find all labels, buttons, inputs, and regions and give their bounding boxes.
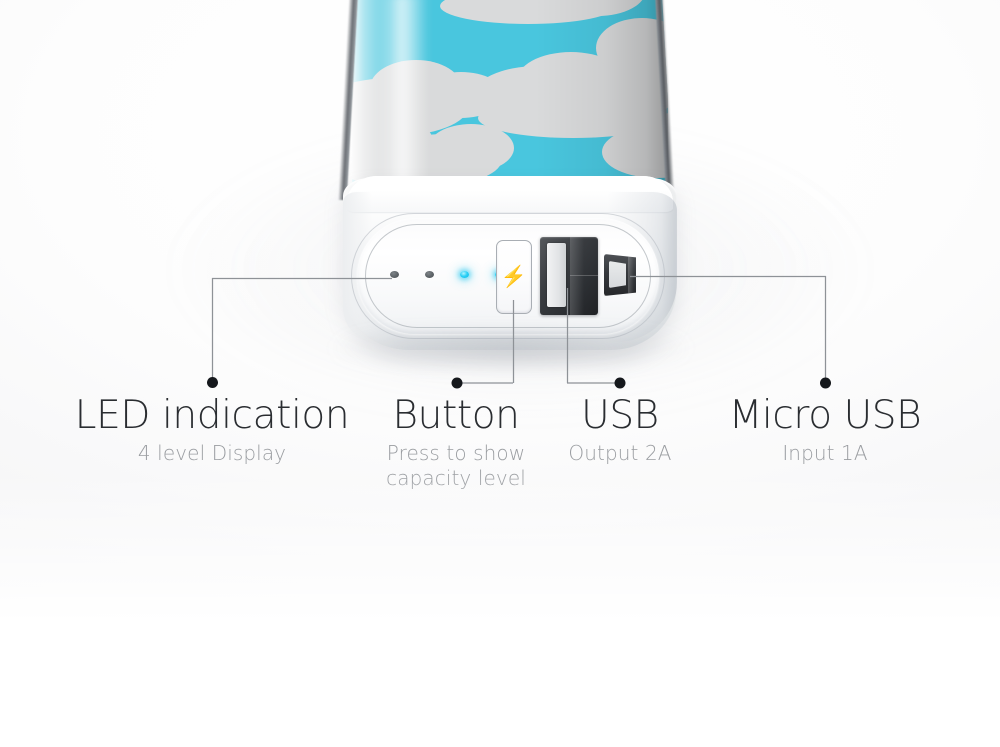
micro-usb-slot bbox=[609, 261, 626, 288]
usb-inner-divider bbox=[570, 275, 598, 276]
end-cap-shoulder bbox=[347, 176, 673, 212]
infographic-canvas: ⚡ bbox=[0, 0, 1000, 747]
background-lower-fade bbox=[0, 470, 1000, 747]
lightning-bolt-icon: ⚡ bbox=[497, 267, 531, 288]
callout-title: USB bbox=[531, 396, 709, 437]
usb-contact-tongue bbox=[547, 243, 566, 307]
callout-subtitle: Input 1A bbox=[700, 441, 950, 467]
callout-usb: USB Output 2A bbox=[531, 396, 709, 466]
callout-subtitle: Output 2A bbox=[531, 441, 709, 467]
micro-usb-highlight bbox=[628, 256, 634, 294]
led-indicator-1 bbox=[390, 271, 399, 278]
cloud-icon bbox=[440, 0, 616, 24]
led-indicator-3 bbox=[460, 271, 469, 278]
led-indicator-2 bbox=[425, 271, 434, 278]
usb-a-port bbox=[540, 237, 598, 315]
power-bank-device: ⚡ bbox=[0, 0, 1000, 400]
power-button[interactable]: ⚡ bbox=[496, 240, 532, 314]
callout-title: Micro USB bbox=[700, 396, 950, 437]
callout-micro-usb: Micro USB Input 1A bbox=[700, 396, 950, 466]
